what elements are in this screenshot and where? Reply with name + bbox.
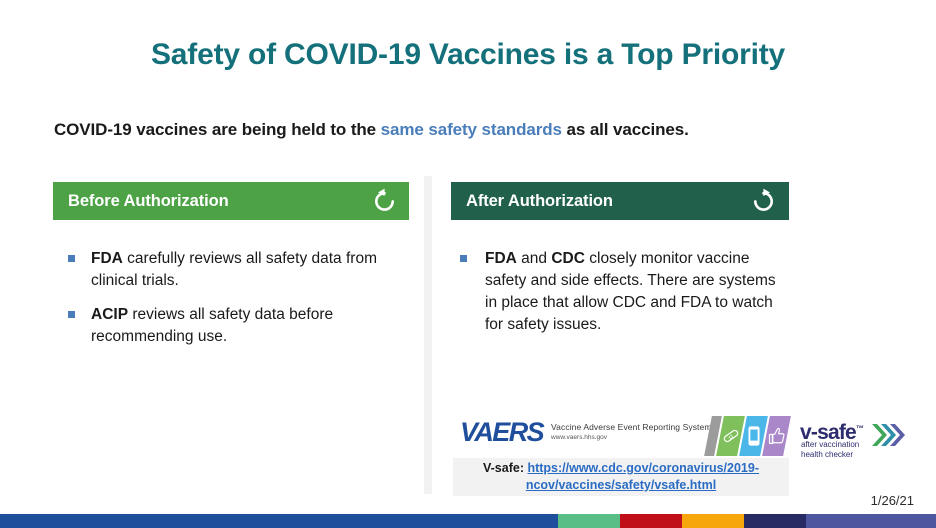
panel-after-authorization: After Authorization FDA and CDC closely … (451, 182, 789, 348)
bandage-glyph (720, 416, 741, 456)
vsafe-tagline-line1: after vaccination (801, 440, 879, 450)
subtitle-lead: COVID-19 vaccines are being held to the (54, 120, 381, 139)
slide-date: 1/26/21 (871, 493, 914, 508)
list-item: FDA and CDC closely monitor vaccine safe… (451, 248, 789, 336)
vsafe-link-label: V-safe: (483, 461, 527, 475)
vsafe-link-text: V-safe: https://www.cdc.gov/coronavirus/… (453, 460, 789, 494)
vaers-tagline: Vaccine Adverse Event Reporting System (551, 422, 712, 433)
footer-segment-blue (0, 514, 558, 528)
panel-before-header-label: Before Authorization (68, 192, 369, 211)
panel-before-header: Before Authorization (53, 182, 409, 220)
bullet-mid: and (517, 250, 551, 267)
vsafe-tagline: after vaccination health checker (801, 440, 879, 459)
footer-segment-green (558, 514, 620, 528)
vsafe-link-url[interactable]: https://www.cdc.gov/coronavirus/2019-nco… (526, 461, 759, 492)
panel-before-bullet-list: FDA carefully reviews all safety data fr… (53, 248, 409, 348)
vsafe-trademark: ™ (856, 424, 863, 433)
phone-glyph (743, 416, 764, 456)
thumbs-up-glyph (766, 416, 787, 456)
panel-after-header: After Authorization (451, 182, 789, 220)
footer-segment-navy (744, 514, 806, 528)
subtitle-highlight: same safety standards (381, 120, 562, 139)
footer-segment-red (620, 514, 682, 528)
list-item: ACIP reviews all safety data before reco… (53, 304, 409, 348)
bullet-text: reviews all safety data before recommend… (91, 306, 333, 345)
logo-row: VAERS Vaccine Adverse Event Reporting Sy… (455, 412, 905, 460)
chevron-arrows-icon (871, 420, 905, 450)
bullet-bold-term: FDA (91, 250, 123, 267)
page-title: Safety of COVID-19 Vaccines is a Top Pri… (0, 38, 936, 72)
bullet-bold-term-2: CDC (551, 250, 585, 267)
slide-subtitle: COVID-19 vaccines are being held to the … (54, 120, 884, 140)
subtitle-trail: as all vaccines. (562, 120, 689, 139)
vsafe-logo: v-safe™ after vaccination health checker (708, 412, 904, 460)
vaers-text-block: Vaccine Adverse Event Reporting System w… (551, 418, 712, 443)
panel-before-authorization: Before Authorization FDA carefully revie… (53, 182, 409, 360)
vaers-logo: VAERS Vaccine Adverse Event Reporting Sy… (460, 418, 712, 446)
bullet-text: carefully reviews all safety data from c… (91, 250, 377, 289)
clockwise-rotate-icon (749, 186, 779, 216)
panel-after-header-label: After Authorization (466, 192, 749, 211)
bullet-bold-term: ACIP (91, 306, 128, 323)
footer-segment-orange (682, 514, 744, 528)
vsafe-link-box: V-safe: https://www.cdc.gov/coronavirus/… (453, 458, 789, 496)
column-divider (424, 176, 432, 494)
vaers-wordmark: VAERS (460, 418, 543, 446)
vsafe-tagline-line2: health checker (801, 450, 879, 460)
list-item: FDA carefully reviews all safety data fr… (53, 248, 409, 292)
vaers-url: www.vaers.hhs.gov (551, 433, 712, 443)
counterclockwise-rotate-icon (369, 186, 399, 216)
bullet-bold-term: FDA (485, 250, 517, 267)
footer-color-bar (0, 514, 936, 528)
panel-after-bullet-list: FDA and CDC closely monitor vaccine safe… (451, 248, 789, 336)
footer-segment-indigo (806, 514, 936, 528)
vsafe-tile-strip (708, 416, 796, 456)
